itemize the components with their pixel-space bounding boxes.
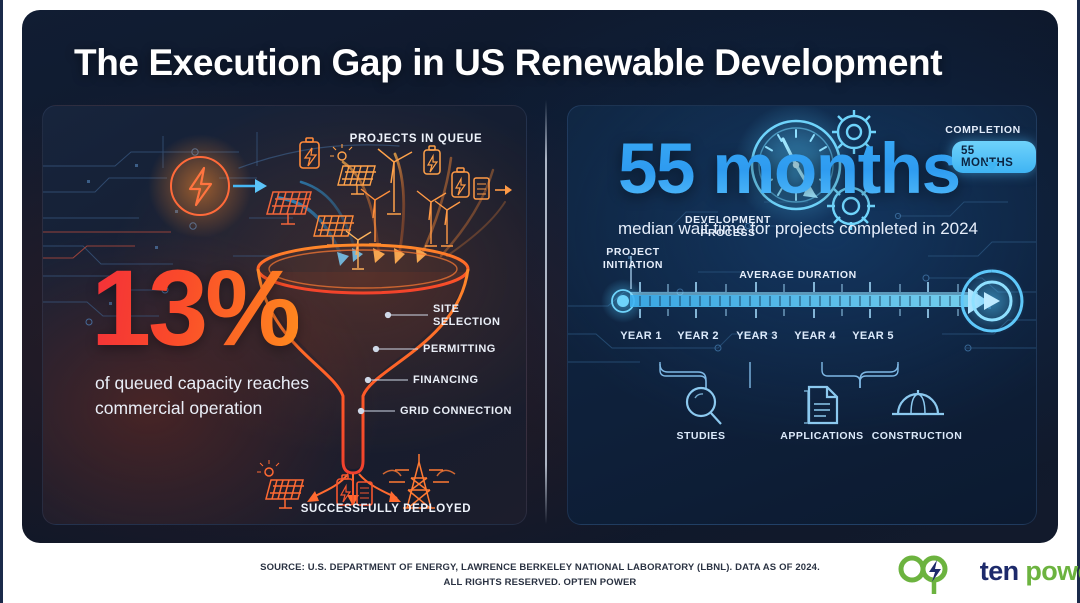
average-duration-label: AVERAGE DURATION: [713, 269, 883, 281]
year-tick-1: YEAR 1: [609, 330, 673, 342]
opten-power-logo: opten power: [898, 548, 1058, 596]
panel-divider: [545, 100, 547, 524]
logo-wordmark: opten power: [898, 556, 1080, 587]
stage-label-selection: SELECTION: [433, 316, 500, 328]
phase-label-studies: STUDIES: [666, 430, 736, 442]
page-title: The Execution Gap in US Renewable Develo…: [74, 42, 942, 84]
projects-in-queue-label: PROJECTS IN QUEUE: [326, 133, 506, 145]
page-left-rule: [0, 0, 3, 603]
infographic-page: The Execution Gap in US Renewable Develo…: [0, 0, 1080, 603]
stage-label-grid-connection: GRID CONNECTION: [400, 405, 512, 417]
successfully-deployed-label: SUCCESSFULLY DEPLOYED: [261, 503, 511, 515]
main-card: The Execution Gap in US Renewable Develo…: [22, 10, 1058, 543]
development-process-label-1: DEVELOPMENT: [666, 214, 790, 226]
stat-55-months: 55 months: [618, 134, 960, 205]
left-panel: PROJECTS IN QUEUE 13% of queued capacity…: [42, 105, 527, 525]
year-tick-5: YEAR 5: [841, 330, 905, 342]
project-initiation-label-1: PROJECT: [590, 246, 676, 258]
year-tick-2: YEAR 2: [666, 330, 730, 342]
stat-13-percent: 13%: [91, 254, 298, 362]
stage-label-permitting: PERMITTING: [423, 343, 496, 355]
project-initiation-label-2: INITIATION: [590, 259, 676, 271]
logo-text-ten: ten: [980, 556, 1019, 586]
completion-label: COMPLETION: [928, 124, 1037, 136]
development-process-label-2: PROCESS: [666, 227, 790, 239]
right-panel: 55 months median wait time for projects …: [567, 105, 1037, 525]
stage-label-financing: FINANCING: [413, 374, 479, 386]
stat-13-caption: of queued capacity reaches commercial op…: [95, 371, 325, 422]
logo-text-power: power: [1019, 556, 1080, 586]
stage-label-site: SITE: [433, 303, 459, 315]
year-tick-4: YEAR 4: [783, 330, 847, 342]
phase-label-construction: CONSTRUCTION: [858, 430, 976, 442]
badge-pointer: [985, 162, 999, 171]
year-tick-3: YEAR 3: [725, 330, 789, 342]
